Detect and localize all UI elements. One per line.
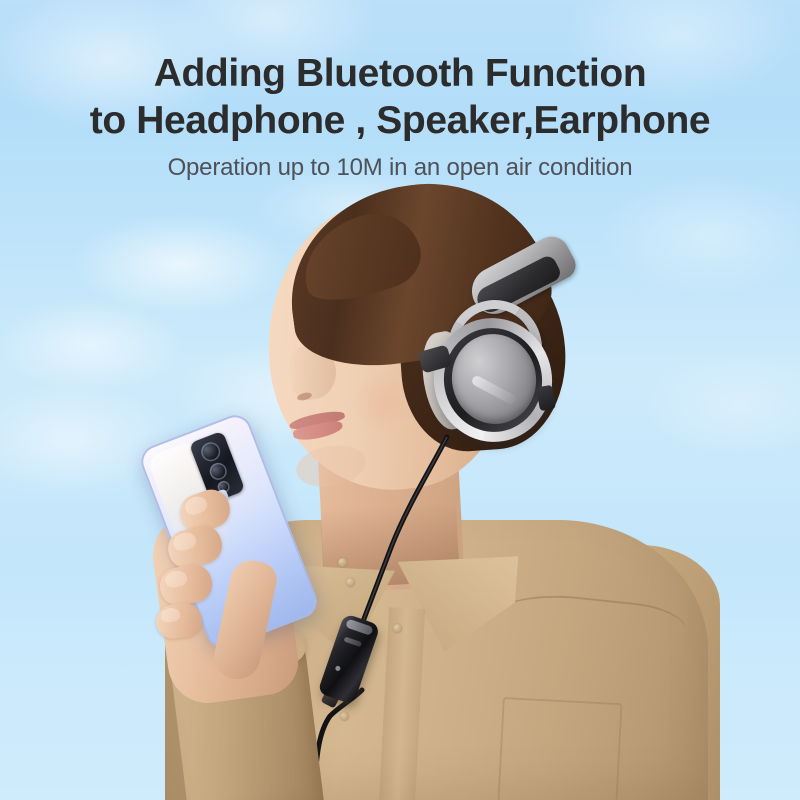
dongle-button[interactable] — [343, 637, 362, 648]
dongle-top-cap — [345, 619, 373, 636]
promo-banner: Adding Bluetooth Function to Headphone ,… — [0, 0, 800, 800]
headline-line-1: Adding Bluetooth Function — [0, 50, 800, 97]
subtitle-text: Operation up to 10M in an open air condi… — [0, 153, 800, 183]
headline-line-2: to Headphone , Speaker,Earphone — [0, 97, 800, 144]
dongle-led-indicator — [335, 665, 341, 671]
headline-block: Adding Bluetooth Function to Headphone ,… — [0, 50, 800, 183]
